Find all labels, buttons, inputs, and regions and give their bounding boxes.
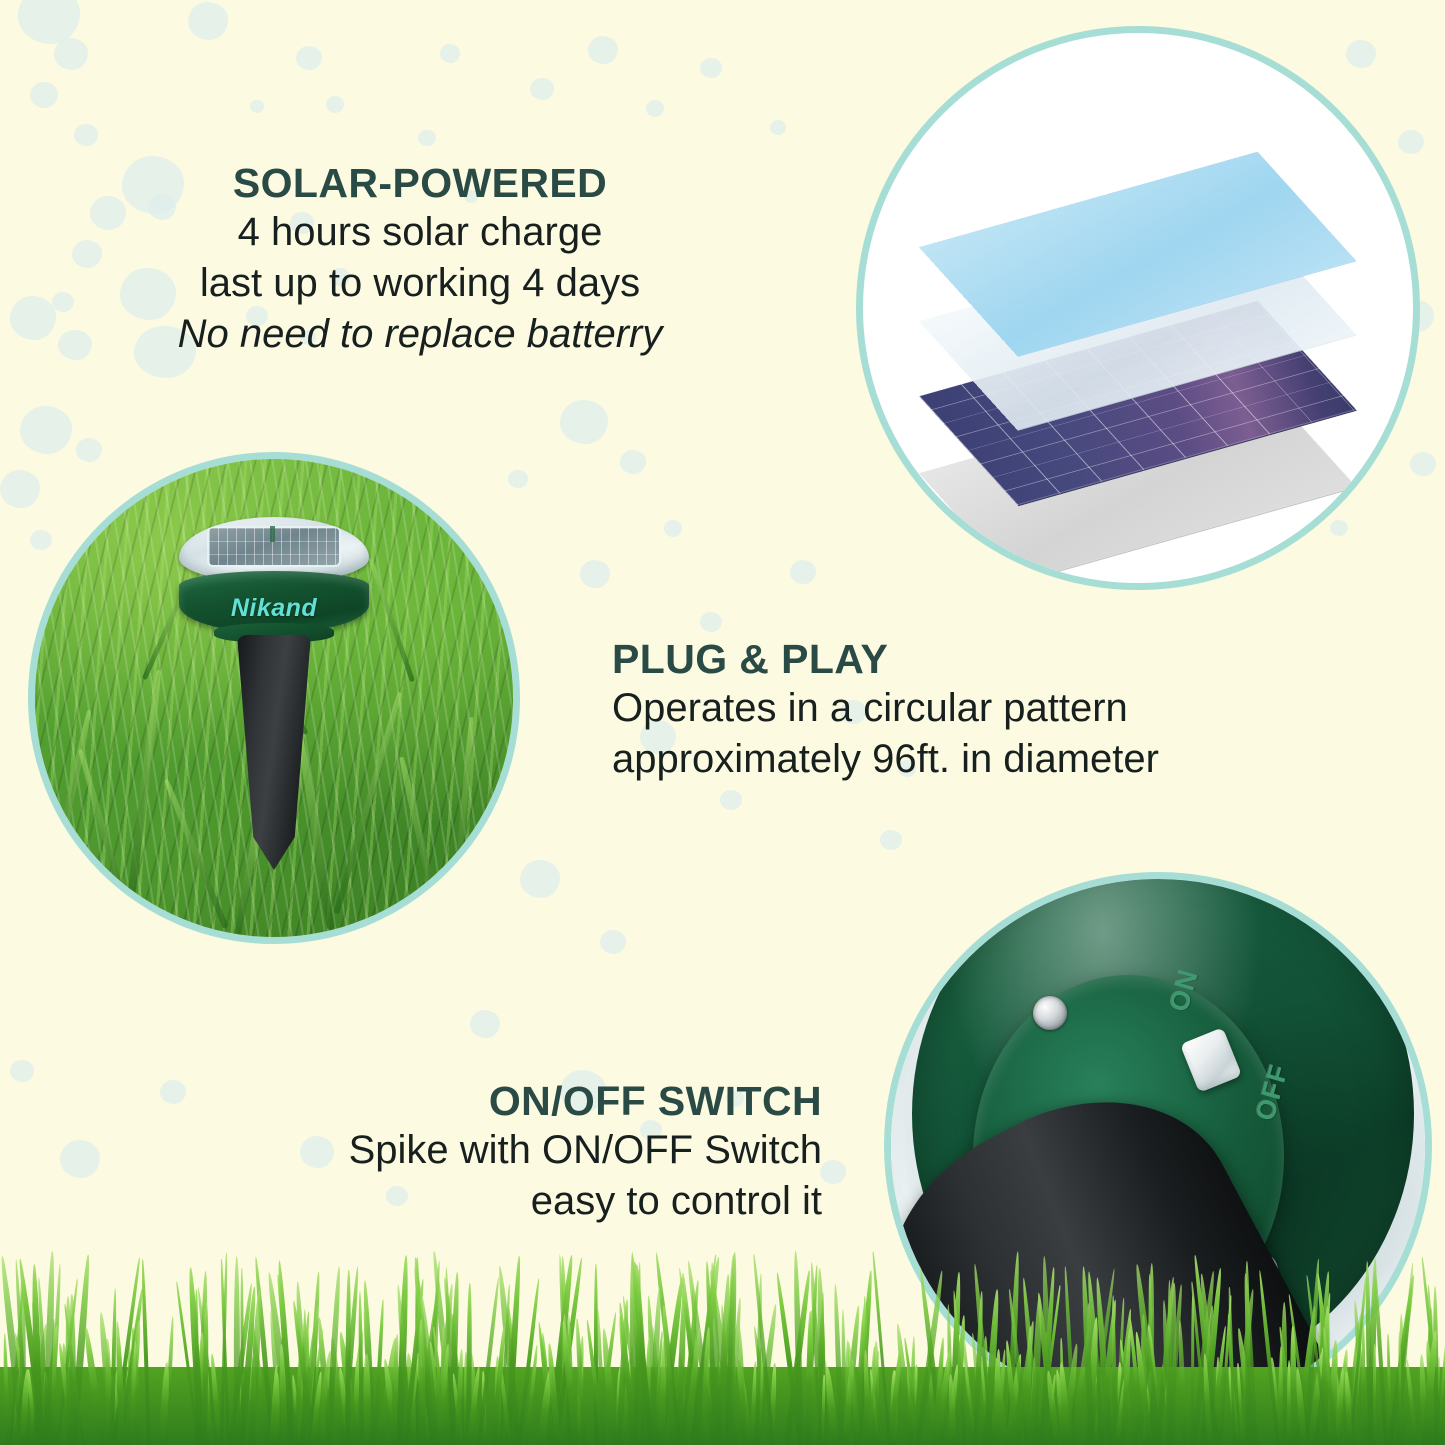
grass-blade: [540, 1333, 554, 1445]
grass-blade: [429, 1285, 440, 1445]
grass-blade: [82, 1327, 105, 1445]
feature-line: No need to replace batterry: [0, 309, 840, 360]
grass-blade: [307, 1272, 322, 1445]
grass-blade: [466, 1366, 482, 1445]
grass-blade: [296, 1311, 310, 1445]
grass-blade: [61, 1343, 75, 1445]
grass-blade: [497, 1266, 523, 1445]
grass-blade: [617, 1316, 636, 1445]
grass-blade: [861, 1321, 874, 1445]
grass-blade: [363, 1307, 374, 1445]
grass-blade: [651, 1331, 664, 1445]
grass-blade: [821, 1375, 826, 1445]
grass-blade: [1437, 1342, 1445, 1445]
grass-blade: [43, 1251, 56, 1445]
grass-blade: [617, 1302, 636, 1445]
grass-blade: [392, 1347, 403, 1445]
grass-blade: [115, 1321, 126, 1445]
grass-blade: [314, 1350, 333, 1445]
grass-blade: [43, 1372, 50, 1445]
grass-blade: [508, 1318, 514, 1445]
grass-blade: [600, 1329, 618, 1445]
grass-blade: [345, 1270, 351, 1445]
grass-blade: [616, 1367, 624, 1445]
grass-blade: [547, 1255, 575, 1445]
grass-blade: [424, 1260, 442, 1445]
grass-blade: [709, 1262, 723, 1445]
grass-blade: [110, 1287, 117, 1445]
grass-blade: [316, 1318, 332, 1445]
grass-blade: [220, 1259, 230, 1445]
grass-blade: [677, 1268, 706, 1445]
grass-blade: [537, 1322, 555, 1445]
grass-blade: [26, 1369, 36, 1445]
grass-blade: [196, 1287, 219, 1445]
grass-blade: [654, 1253, 682, 1445]
grass-blade: [123, 1370, 130, 1445]
feature-line: last up to working 4 days: [0, 258, 840, 309]
grass-blade: [382, 1359, 400, 1445]
grass-blade: [524, 1344, 539, 1445]
grass-blade: [632, 1262, 652, 1445]
grass-blade: [2, 1333, 10, 1445]
grass-blade: [723, 1255, 736, 1445]
grass-blade: [648, 1287, 662, 1445]
infographic-canvas: SOLAR-POWERED 4 hours solar charge last …: [0, 0, 1445, 1445]
grass-blade: [470, 1353, 480, 1445]
grass-blade: [293, 1325, 304, 1445]
grass-blade: [249, 1357, 257, 1445]
grass-blade: [700, 1327, 712, 1445]
grass-blade: [396, 1255, 409, 1445]
grass-blade: [0, 1256, 27, 1445]
grass-blade: [842, 1305, 862, 1445]
grass-blade: [657, 1277, 685, 1445]
grass-blade: [646, 1295, 659, 1445]
grass-blade: [377, 1338, 398, 1445]
grass-blade: [441, 1374, 450, 1445]
grass-blade: [481, 1371, 487, 1445]
grass-blade: [434, 1348, 445, 1445]
grass-blade: [116, 1334, 125, 1445]
grass-blade: [666, 1334, 672, 1445]
grass-blade: [444, 1267, 454, 1445]
grass-blade: [239, 1286, 257, 1445]
grass-blade: [865, 1351, 881, 1445]
grass-blade: [712, 1302, 734, 1445]
feature-heading: ON/OFF SWITCH: [0, 1078, 822, 1125]
grass-blade: [58, 1343, 77, 1445]
grass-blade: [291, 1375, 302, 1445]
grass-blade: [20, 1269, 26, 1445]
grass-blade: [406, 1369, 418, 1445]
grass-blade: [824, 1366, 839, 1445]
grass-blade: [415, 1358, 431, 1445]
grass-blade: [70, 1254, 91, 1445]
feature-line: approximately 96ft. in diameter: [612, 734, 1159, 785]
grass-blade: [704, 1261, 718, 1445]
grass-blade: [845, 1341, 862, 1445]
grass-blade: [338, 1367, 352, 1445]
grass-blade: [141, 1259, 151, 1445]
grass-blade: [866, 1346, 876, 1445]
solar-layers-stack: [863, 33, 1413, 583]
grass-blade: [619, 1346, 635, 1445]
grass-blade: [817, 1292, 825, 1445]
grass-blade: [234, 1256, 240, 1445]
grass-blade: [720, 1304, 731, 1445]
grass-blade: [558, 1254, 571, 1445]
grass-blade: [752, 1326, 771, 1445]
grass-blade: [403, 1355, 417, 1445]
grass-blade: [240, 1268, 244, 1445]
grass-blade: [9, 1285, 25, 1445]
grass-blade: [276, 1275, 295, 1445]
grass-blade: [248, 1290, 263, 1445]
grass-blade: [278, 1344, 287, 1445]
grass-blade: [441, 1340, 447, 1445]
grass-blade: [873, 1341, 880, 1445]
brand-label: Nikand: [231, 594, 317, 623]
grass-blade: [65, 1296, 73, 1445]
grass-blade: [683, 1328, 703, 1445]
grass-blade: [31, 1323, 49, 1445]
grass-blade: [680, 1280, 701, 1445]
grass-blade: [872, 1252, 891, 1445]
grass-blade: [130, 1327, 141, 1445]
grass-blade: [450, 1314, 460, 1445]
grass-blade: [466, 1361, 479, 1445]
mole-repeller-device: Nikand: [179, 517, 369, 870]
grass-blade: [676, 1286, 687, 1445]
grass-blade: [809, 1262, 824, 1445]
grass-blade: [14, 1259, 29, 1445]
grass-blade: [275, 1320, 288, 1445]
product-in-grass-image: Nikand: [28, 452, 520, 944]
grass-blade: [19, 1369, 30, 1445]
feature-line: 4 hours solar charge: [0, 207, 840, 258]
grass-blade: [690, 1289, 702, 1445]
grass-blade: [301, 1309, 307, 1445]
grass-blade: [855, 1270, 873, 1445]
grass-blade: [680, 1273, 702, 1445]
grass-blade: [576, 1366, 585, 1445]
grass-blade: [175, 1281, 200, 1445]
grass-blade: [164, 1316, 175, 1445]
grass-blade: [575, 1318, 587, 1445]
grass-blade: [690, 1255, 717, 1445]
grass-blade: [755, 1273, 763, 1445]
grass-blade: [412, 1267, 434, 1445]
grass-blade: [863, 1350, 871, 1445]
grass-blade: [805, 1265, 818, 1445]
grass-blade: [498, 1364, 511, 1445]
grass-blade: [210, 1353, 223, 1445]
grass-blade: [736, 1360, 754, 1445]
grass-blade: [869, 1370, 880, 1445]
grass-blade: [249, 1321, 271, 1445]
grass-blade: [310, 1371, 324, 1445]
grass-blade: [596, 1309, 606, 1445]
grass-blade: [553, 1257, 584, 1445]
grass-blade: [775, 1272, 803, 1445]
grass-blade: [507, 1307, 520, 1445]
grass-blade: [1424, 1341, 1438, 1445]
grass-blade: [1432, 1286, 1438, 1445]
grass-blade: [1426, 1307, 1434, 1445]
grass-blade: [202, 1302, 209, 1445]
grass-blade: [127, 1342, 132, 1445]
grass-blade: [863, 1296, 870, 1445]
grass-blade: [1432, 1356, 1441, 1445]
grass-blade: [269, 1365, 278, 1445]
grass-blade: [432, 1326, 448, 1445]
grass-blade: [299, 1306, 321, 1445]
grass-blade: [232, 1374, 245, 1445]
feature-text-plug-and-play: PLUG & PLAY Operates in a circular patte…: [612, 636, 1159, 785]
grass-blade: [854, 1303, 867, 1445]
grass-blade: [268, 1311, 283, 1445]
grass-blade: [348, 1330, 365, 1445]
grass-blade: [629, 1252, 637, 1445]
grass-blade: [585, 1320, 604, 1445]
feature-line: easy to control it: [0, 1176, 822, 1227]
grass-blade: [105, 1339, 113, 1445]
grass-blade: [769, 1363, 777, 1445]
grass-blade: [848, 1371, 862, 1445]
feature-text-on-off-switch: ON/OFF SWITCH Spike with ON/OFF Switch e…: [0, 1078, 840, 1227]
grass-blade: [305, 1329, 324, 1445]
grass-blade: [537, 1368, 554, 1445]
feature-line: Operates in a circular pattern: [612, 683, 1159, 734]
grass-blade: [753, 1347, 765, 1445]
feature-heading: PLUG & PLAY: [612, 636, 1159, 683]
grass-blade: [844, 1340, 850, 1445]
grass-blade: [566, 1315, 574, 1445]
grass-blade: [562, 1314, 567, 1445]
grass-blade: [63, 1304, 85, 1445]
grass-blade: [295, 1281, 310, 1445]
grass-blade: [418, 1296, 440, 1445]
grass-blade: [466, 1283, 472, 1445]
grass-blade: [442, 1277, 470, 1445]
grass-blade: [495, 1356, 501, 1445]
grass-blade: [808, 1325, 813, 1445]
grass-blade: [415, 1284, 442, 1445]
grass-blade: [296, 1350, 304, 1445]
grass-blade: [68, 1294, 76, 1445]
grass-blade: [629, 1255, 654, 1445]
grass-blade: [390, 1334, 400, 1445]
grass-blade: [358, 1291, 364, 1445]
grass-blade: [833, 1284, 844, 1445]
grass-blade: [195, 1289, 199, 1445]
grass-blade: [362, 1280, 376, 1445]
grass-blade: [428, 1341, 443, 1445]
grass-blade: [49, 1264, 62, 1445]
grass-blade: [727, 1297, 743, 1445]
grass-blade: [651, 1327, 665, 1445]
grass-blade: [451, 1373, 463, 1445]
grass-blade: [56, 1279, 79, 1445]
grass-blade: [448, 1272, 460, 1445]
grass-blade: [352, 1356, 361, 1445]
grass-blade: [792, 1251, 803, 1445]
grass-blade: [633, 1264, 649, 1445]
grass-blade: [188, 1267, 206, 1445]
grass-blade: [291, 1299, 316, 1445]
grass-blade: [198, 1271, 208, 1445]
grass-blade: [341, 1266, 360, 1445]
grass-blade: [433, 1283, 455, 1445]
grass-blade: [266, 1272, 295, 1445]
feature-line: Spike with ON/OFF Switch: [0, 1125, 822, 1176]
grass-blade: [622, 1295, 646, 1445]
grass-blade: [31, 1264, 43, 1445]
ground-spike: [237, 635, 311, 870]
grass-blade: [659, 1340, 668, 1445]
grass-blade: [202, 1359, 210, 1445]
grass-blade: [106, 1368, 120, 1445]
grass-blade: [547, 1343, 561, 1445]
grass-blade: [405, 1353, 418, 1445]
grass-blade: [677, 1352, 686, 1445]
grass-blade: [319, 1368, 332, 1445]
grass-blade: [477, 1277, 501, 1445]
grass-blade: [727, 1355, 738, 1445]
grass-blade: [159, 1362, 170, 1445]
grass-blade: [455, 1349, 464, 1445]
grass-blade: [784, 1270, 812, 1445]
grass-blade: [363, 1354, 371, 1445]
grass-blade: [596, 1312, 618, 1445]
grass-blade: [505, 1255, 523, 1445]
grass-blade: [412, 1257, 436, 1445]
switch-scene: ON OFF: [891, 879, 1425, 1413]
grass-blade: [616, 1299, 630, 1445]
grass-blade: [575, 1336, 585, 1445]
on-off-switch-closeup-image: ON OFF: [884, 872, 1432, 1420]
grass-blade: [626, 1363, 639, 1445]
grass-blade: [840, 1309, 846, 1445]
grass-blade: [337, 1332, 359, 1445]
grass-blade: [690, 1256, 722, 1445]
grass-blade: [418, 1319, 426, 1445]
grass-blade: [52, 1319, 57, 1445]
grass-blade: [276, 1260, 295, 1445]
grass-blade: [29, 1301, 54, 1445]
grass-blade: [109, 1374, 124, 1445]
grass-blade: [97, 1312, 116, 1445]
grass-blade: [17, 1258, 47, 1445]
grass-blade: [560, 1320, 579, 1445]
grass-blade: [491, 1326, 507, 1445]
grass-blade: [736, 1325, 747, 1445]
grass-blade: [436, 1343, 451, 1445]
grass-blade: [403, 1279, 425, 1445]
grass-blade: [305, 1321, 309, 1445]
grass-blade: [661, 1305, 677, 1445]
grass-blade: [817, 1313, 826, 1445]
grass-blade: [118, 1288, 144, 1445]
grass-blade: [8, 1368, 23, 1445]
grass-blade: [707, 1271, 737, 1445]
grass-blade: [343, 1342, 348, 1445]
grass-blade: [228, 1283, 254, 1445]
grass-blade: [325, 1266, 342, 1445]
grass-blade: [14, 1333, 34, 1445]
grass-blade: [560, 1256, 573, 1445]
grass-blade: [716, 1275, 731, 1445]
grass-blade: [634, 1262, 642, 1445]
grass-blade: [220, 1253, 228, 1445]
grass-blade: [431, 1251, 456, 1445]
grass-blade: [717, 1351, 727, 1445]
grass-blade: [703, 1367, 712, 1445]
grass-blade: [33, 1320, 37, 1445]
solar-layer-cover-glass: [940, 129, 1335, 379]
grass-blade: [112, 1257, 141, 1445]
grass-blade: [373, 1300, 385, 1445]
feature-text-solar-powered: SOLAR-POWERED 4 hours solar charge last …: [0, 160, 840, 361]
grass-blade: [440, 1325, 452, 1445]
grass-blade: [197, 1332, 205, 1445]
grass-blade: [644, 1338, 651, 1445]
grass-blade: [303, 1346, 316, 1445]
grass-blade: [272, 1372, 280, 1445]
grass-blade: [395, 1284, 412, 1445]
grass-blade: [129, 1341, 138, 1445]
grass-blade: [805, 1311, 813, 1445]
grass-blade: [463, 1352, 467, 1445]
grass-blade: [816, 1268, 827, 1445]
grass-blade: [806, 1310, 814, 1445]
grass-blade: [328, 1337, 345, 1445]
grass-blade: [725, 1252, 738, 1445]
feature-heading: SOLAR-POWERED: [0, 160, 840, 207]
grass-blade: [630, 1276, 647, 1445]
grass-blade: [754, 1303, 778, 1445]
grass-blade: [686, 1260, 717, 1445]
grass-blade: [842, 1359, 855, 1445]
grass-blade: [814, 1361, 828, 1445]
grass-blade: [750, 1361, 757, 1445]
grass-blade: [42, 1326, 59, 1445]
grass-blade: [253, 1256, 275, 1445]
grass-blade: [752, 1254, 775, 1445]
grass-blade: [415, 1257, 421, 1445]
grass-blade: [594, 1264, 598, 1445]
solar-panel-diagram-image: [856, 26, 1420, 590]
grass-blade: [124, 1320, 142, 1445]
grass-blade: [499, 1284, 511, 1445]
grass-blade: [1426, 1285, 1437, 1445]
grass-blade: [632, 1325, 650, 1445]
grass-blade: [404, 1352, 422, 1445]
grass-blade: [869, 1358, 876, 1445]
grass-blade: [518, 1278, 542, 1445]
grass-blade: [36, 1278, 49, 1445]
cell-divider: [270, 526, 275, 542]
